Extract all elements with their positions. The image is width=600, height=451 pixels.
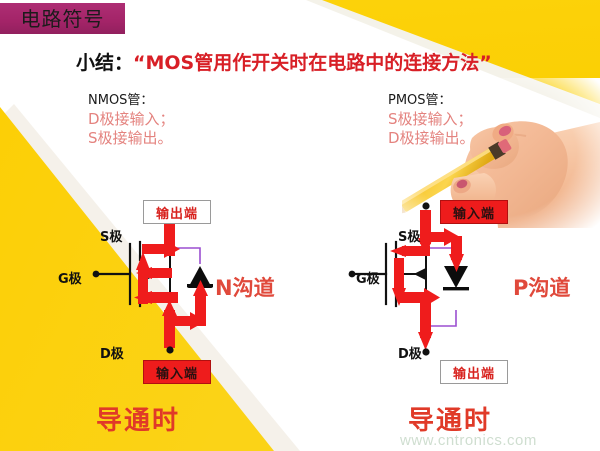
- page-title: 小结：“MOS管用作开关时在电路中的连接方法”: [76, 48, 536, 76]
- pmos-note: PMOS管： S极接输入； D极接输出。: [388, 93, 475, 148]
- p-output-chip-label: 输出端: [453, 363, 495, 382]
- header-badge-label: 电路符号: [21, 9, 105, 29]
- p-input-chip: 输入端: [440, 200, 508, 224]
- slide-canvas: 电路符号 小结：“MOS管用作开关时在电路中的连接方法” NMOS管： D极接输…: [0, 0, 600, 451]
- nmos-note-line-2: S极接输出。: [88, 129, 175, 148]
- n-output-chip: 输出端: [143, 200, 211, 224]
- n-output-chip-label: 输出端: [156, 203, 198, 222]
- p-drain-node-dot: [422, 348, 429, 355]
- n-drain-pin-label: D极: [100, 343, 124, 362]
- pmos-note-line-2: D极接输出。: [388, 129, 475, 148]
- p-input-chip-label: 输入端: [453, 203, 495, 222]
- nmos-note-header: NMOS管：: [88, 93, 175, 110]
- watermark: www.cntronics.com: [400, 432, 537, 449]
- nmos-note: NMOS管： D极接输入； S极接输出。: [88, 93, 175, 148]
- n-conducting-caption: 导通时: [96, 400, 180, 437]
- n-input-chip: 输入端: [143, 360, 211, 384]
- title-prefix: 小结：: [76, 52, 133, 74]
- title-quoted: “MOS管用作开关时在电路中的连接方法”: [133, 52, 492, 74]
- n-input-chip-label: 输入端: [156, 363, 198, 382]
- p-drain-pin-label: D极: [398, 343, 422, 362]
- p-source-pin-label: S极: [398, 226, 420, 245]
- p-source-node-dot: [422, 202, 429, 209]
- header-badge: 电路符号: [0, 3, 125, 34]
- nmos-note-line-1: D极接输入；: [88, 110, 175, 129]
- n-gate-pin-label: G极: [58, 268, 82, 287]
- p-channel-label: P沟道: [513, 272, 570, 302]
- pmos-note-header: PMOS管：: [388, 93, 475, 110]
- p-gate-terminal-dot: [349, 271, 356, 278]
- p-gate-pin-label: G极: [356, 268, 380, 287]
- p-output-chip: 输出端: [440, 360, 508, 384]
- n-channel-label: N沟道: [215, 272, 275, 302]
- n-gate-terminal-dot: [93, 271, 100, 278]
- n-source-pin-label: S极: [100, 226, 122, 245]
- pmos-note-line-1: S极接输入；: [388, 110, 475, 129]
- n-drain-node-dot: [166, 346, 173, 353]
